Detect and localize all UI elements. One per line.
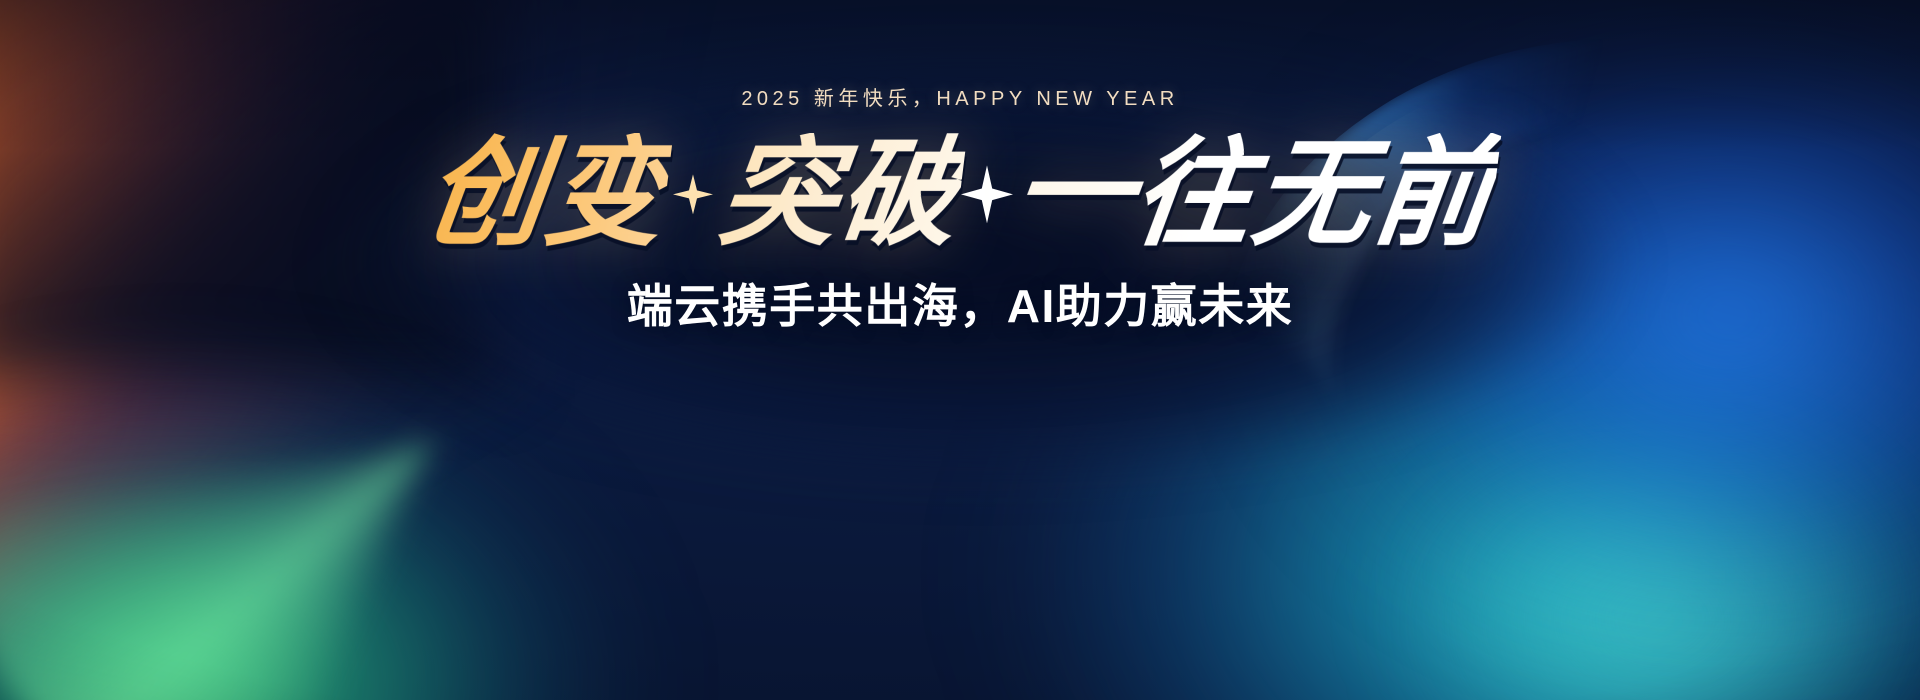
subtitle-text: 端云携手共出海，AI助力赢未来 <box>627 270 1294 336</box>
sparkle-icon-1 <box>666 140 720 248</box>
headline: 创变 突破 一往无前 <box>426 133 1494 256</box>
eyebrow-text: 2025 新年快乐，HAPPY NEW YEAR <box>741 82 1178 111</box>
headline-segment-chuangbian: 创变 <box>418 133 673 256</box>
new-year-hero-banner: 2025 新年快乐，HAPPY NEW YEAR 创变 突破 一往无前 端云携手… <box>0 0 1920 700</box>
banner-content: 2025 新年快乐，HAPPY NEW YEAR 创变 突破 一往无前 端云携手… <box>0 0 1920 700</box>
headline-segment-tupo: 突破 <box>712 133 967 256</box>
headline-segment-yiwangwuqian: 一往无前 <box>1006 133 1501 256</box>
sparkle-icon-2 <box>960 140 1014 248</box>
